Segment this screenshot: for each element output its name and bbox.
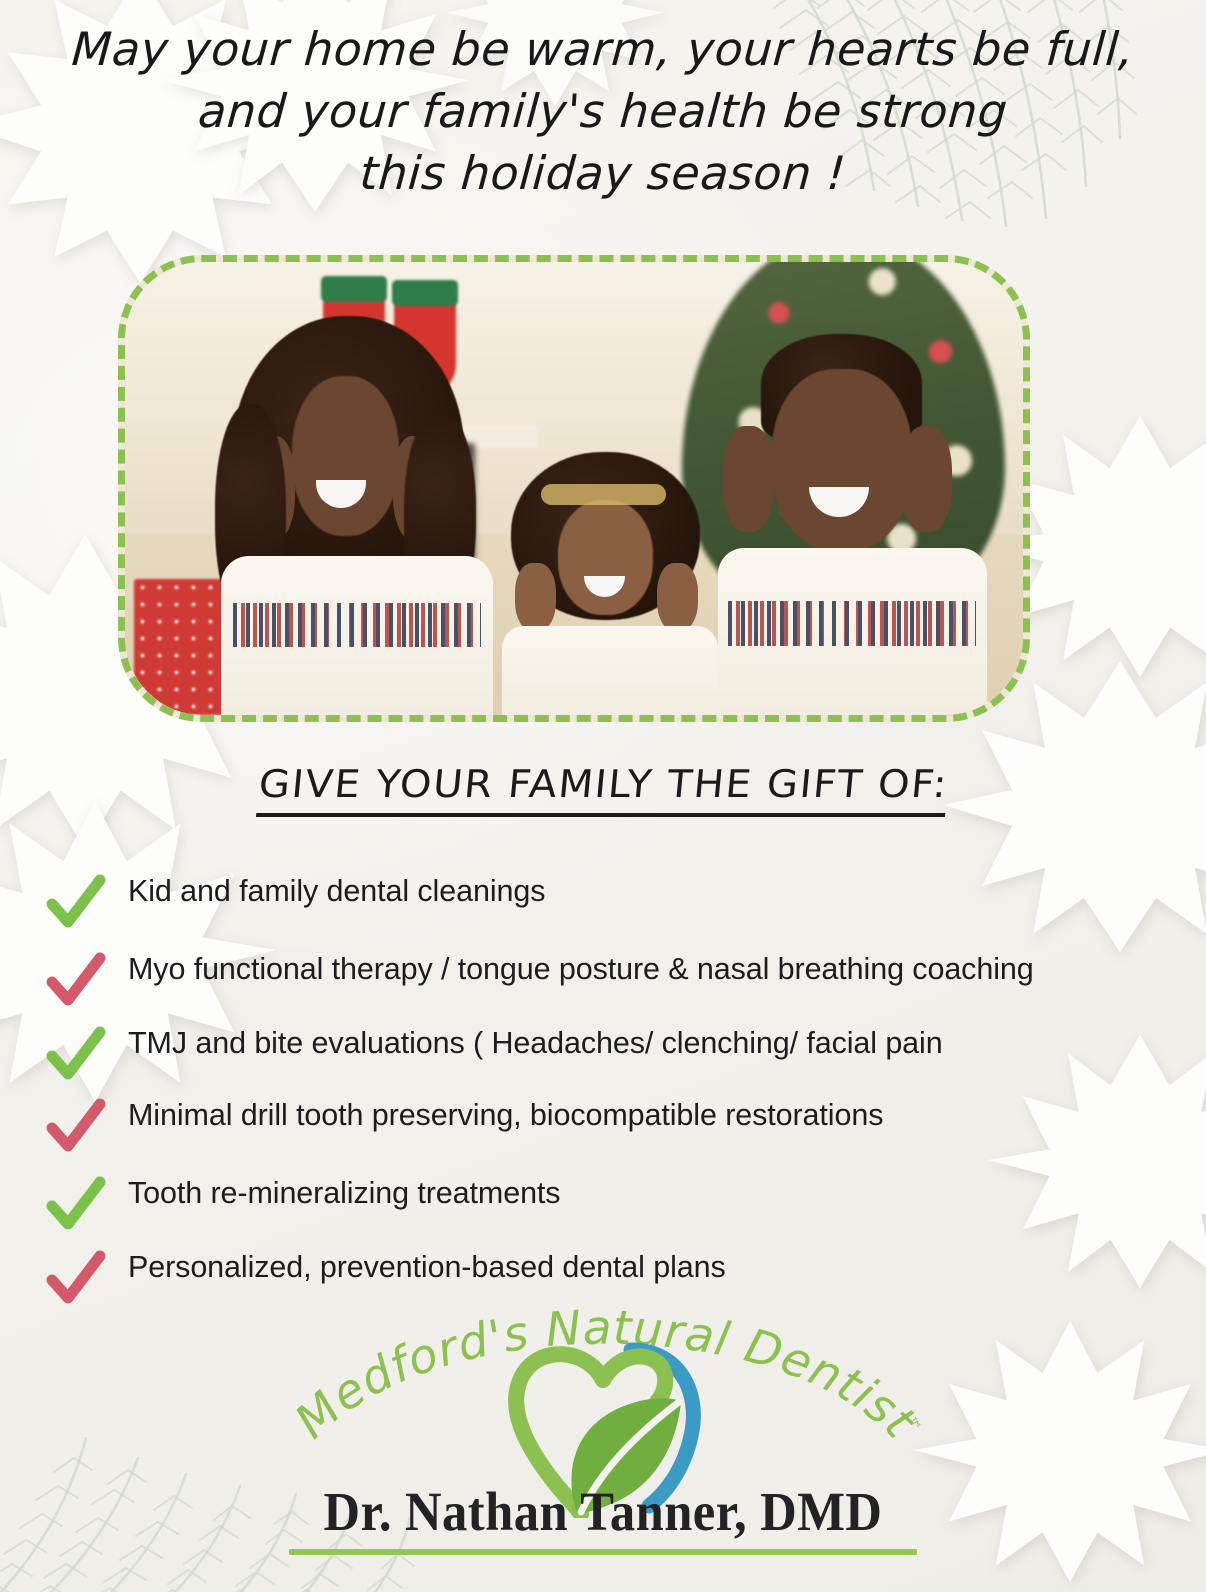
checkmark-green-icon: [36, 1024, 128, 1082]
list-item-label: Myo functional therapy / tongue posture …: [128, 950, 1166, 987]
doctor-name: Dr. Nathan Tanner, DMD: [281, 1480, 925, 1543]
headline-line-2: and your family's health be strong: [0, 80, 1206, 142]
list-item: TMJ and bite evaluations ( Headaches/ cl…: [36, 1024, 1166, 1082]
checkmark-red-icon: [36, 1248, 128, 1306]
list-item: Tooth re-mineralizing treatments: [36, 1174, 1166, 1232]
checkmark-green-icon: [36, 1174, 128, 1232]
person-daughter: [502, 452, 718, 715]
family-photo: [125, 262, 1023, 715]
list-item-label: Minimal drill tooth preserving, biocompa…: [128, 1096, 1166, 1133]
headline-greeting: May your home be warm, your hearts be fu…: [0, 18, 1206, 204]
checkmark-green-icon: [36, 872, 128, 930]
gift-section-heading-text: GIVE YOUR FAMILY THE GIFT OF:: [256, 762, 950, 817]
list-item-label: Tooth re-mineralizing treatments: [128, 1174, 1166, 1211]
headline-line-3: this holiday season !: [0, 142, 1206, 204]
person-mother: [215, 316, 511, 715]
doctor-name-underline: [289, 1549, 917, 1555]
holiday-flyer: May your home be warm, your hearts be fu…: [0, 0, 1206, 1592]
list-item: Myo functional therapy / tongue posture …: [36, 950, 1166, 1008]
list-item-label: Personalized, prevention-based dental pl…: [128, 1248, 1166, 1285]
list-item-label: Kid and family dental cleanings: [128, 872, 1166, 909]
checkmark-red-icon: [36, 1096, 128, 1154]
services-checklist: Kid and family dental cleanings Myo func…: [36, 872, 1166, 1306]
person-father: [718, 334, 987, 715]
family-photo-frame: [118, 255, 1030, 722]
list-item-label: TMJ and bite evaluations ( Headaches/ cl…: [128, 1024, 1166, 1061]
practice-logo: Medford's Natural Dentist ™ Dr. Nathan T…: [253, 1288, 953, 1584]
gift-section-heading: GIVE YOUR FAMILY THE GIFT OF:: [0, 762, 1206, 817]
list-item: Kid and family dental cleanings: [36, 872, 1166, 930]
checkmark-red-icon: [36, 950, 128, 1008]
headline-line-1: May your home be warm, your hearts be fu…: [0, 18, 1206, 80]
list-item: Minimal drill tooth preserving, biocompa…: [36, 1096, 1166, 1154]
